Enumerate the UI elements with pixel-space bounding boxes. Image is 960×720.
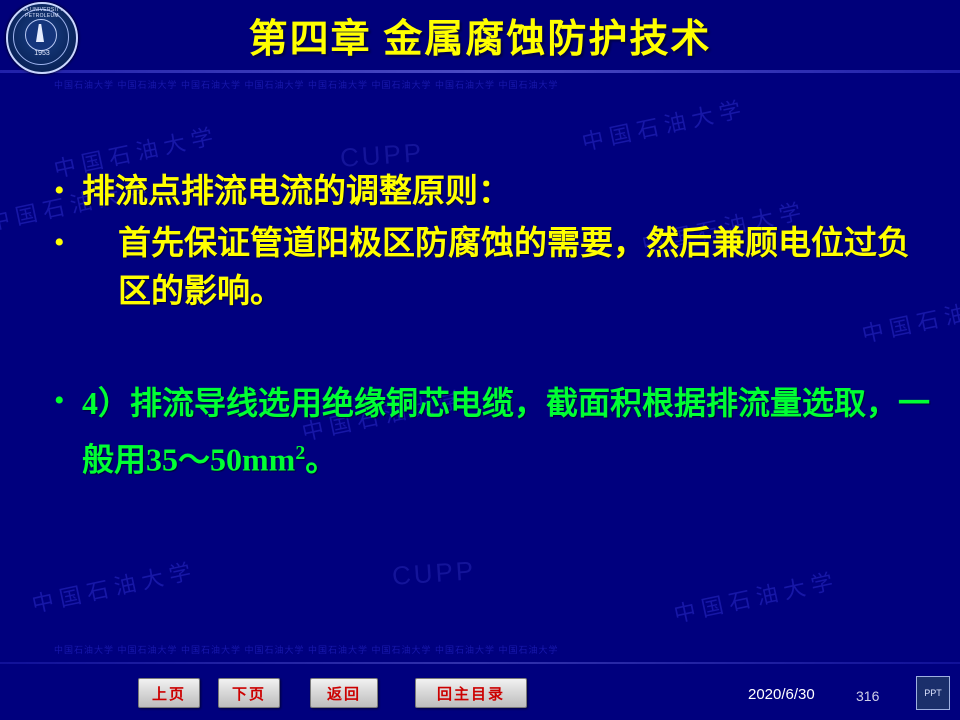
prev-page-button[interactable]: 上页 <box>138 678 200 708</box>
bullet-text-3-main: 4）排流导线选用绝缘铜芯电缆，截面积根据排流量选取，一般用35～50mm <box>82 385 930 478</box>
return-button[interactable]: 返回 <box>310 678 378 708</box>
watermark-cn-6: 中国石油大学 <box>29 553 200 619</box>
footer-page-number: 316 <box>856 688 879 704</box>
bullet-item-1: • 排流点排流电流的调整原则： <box>42 168 932 216</box>
corner-badge-icon: PPT <box>916 676 950 710</box>
corner-badge-label: PPT <box>924 688 942 698</box>
main-menu-label: 回主目录 <box>437 683 505 704</box>
bullet-text-3-sup: 2 <box>295 442 305 464</box>
content-spacer <box>42 320 932 378</box>
page-title: 第四章 金属腐蚀防护技术 <box>0 8 960 64</box>
footer-divider <box>0 662 960 664</box>
bullet-marker: • <box>42 378 82 424</box>
next-page-label: 下页 <box>232 683 266 704</box>
bullet-text-1: 排流点排流电流的调整原则： <box>82 168 932 216</box>
bullet-marker: • <box>42 220 82 266</box>
next-page-button[interactable]: 下页 <box>218 678 280 708</box>
main-menu-button[interactable]: 回主目录 <box>415 678 527 708</box>
watermark-strip-bottom: 中国石油大学 中国石油大学 中国石油大学 中国石油大学 中国石油大学 中国石油大… <box>54 643 559 656</box>
bullet-marker: • <box>42 168 82 214</box>
logo-arc-text: CHINA UNIVERSITY OF PETROLEUM <box>8 7 76 19</box>
watermark-strip-top: 中国石油大学 中国石油大学 中国石油大学 中国石油大学 中国石油大学 中国石油大… <box>54 78 559 91</box>
slide-canvas: 中国石油大学 中国石油大学 中国石油大学 中国石油大学 中国石油大学 中国石油大… <box>0 0 960 720</box>
bullet-text-2: 首先保证管道阳极区防腐蚀的需要，然后兼顾电位过负区的影响。 <box>82 220 932 316</box>
return-label: 返回 <box>327 683 361 704</box>
bullet-item-2: • 首先保证管道阳极区防腐蚀的需要，然后兼顾电位过负区的影响。 <box>42 220 932 316</box>
bullet-text-3: 4）排流导线选用绝缘铜芯电缆，截面积根据排流量选取，一般用35～50mm2。 <box>82 378 932 485</box>
logo-year: 1953 <box>8 50 76 57</box>
watermark-cn-2: 中国石油大学 <box>579 91 750 157</box>
university-logo: CHINA UNIVERSITY OF PETROLEUM 1953 <box>6 2 78 74</box>
watermark-brand-2: CUPP <box>391 555 477 592</box>
watermark-cn-7: 中国石油大学 <box>671 563 842 629</box>
header-divider <box>0 70 960 73</box>
bullet-item-3: • 4）排流导线选用绝缘铜芯电缆，截面积根据排流量选取，一般用35～50mm2。 <box>42 378 932 485</box>
footer-date: 2020/6/30 <box>748 686 815 703</box>
slide-body: • 排流点排流电流的调整原则： • 首先保证管道阳极区防腐蚀的需要，然后兼顾电位… <box>42 168 932 489</box>
prev-page-label: 上页 <box>152 683 186 704</box>
bullet-text-3-tail: 。 <box>305 442 337 478</box>
